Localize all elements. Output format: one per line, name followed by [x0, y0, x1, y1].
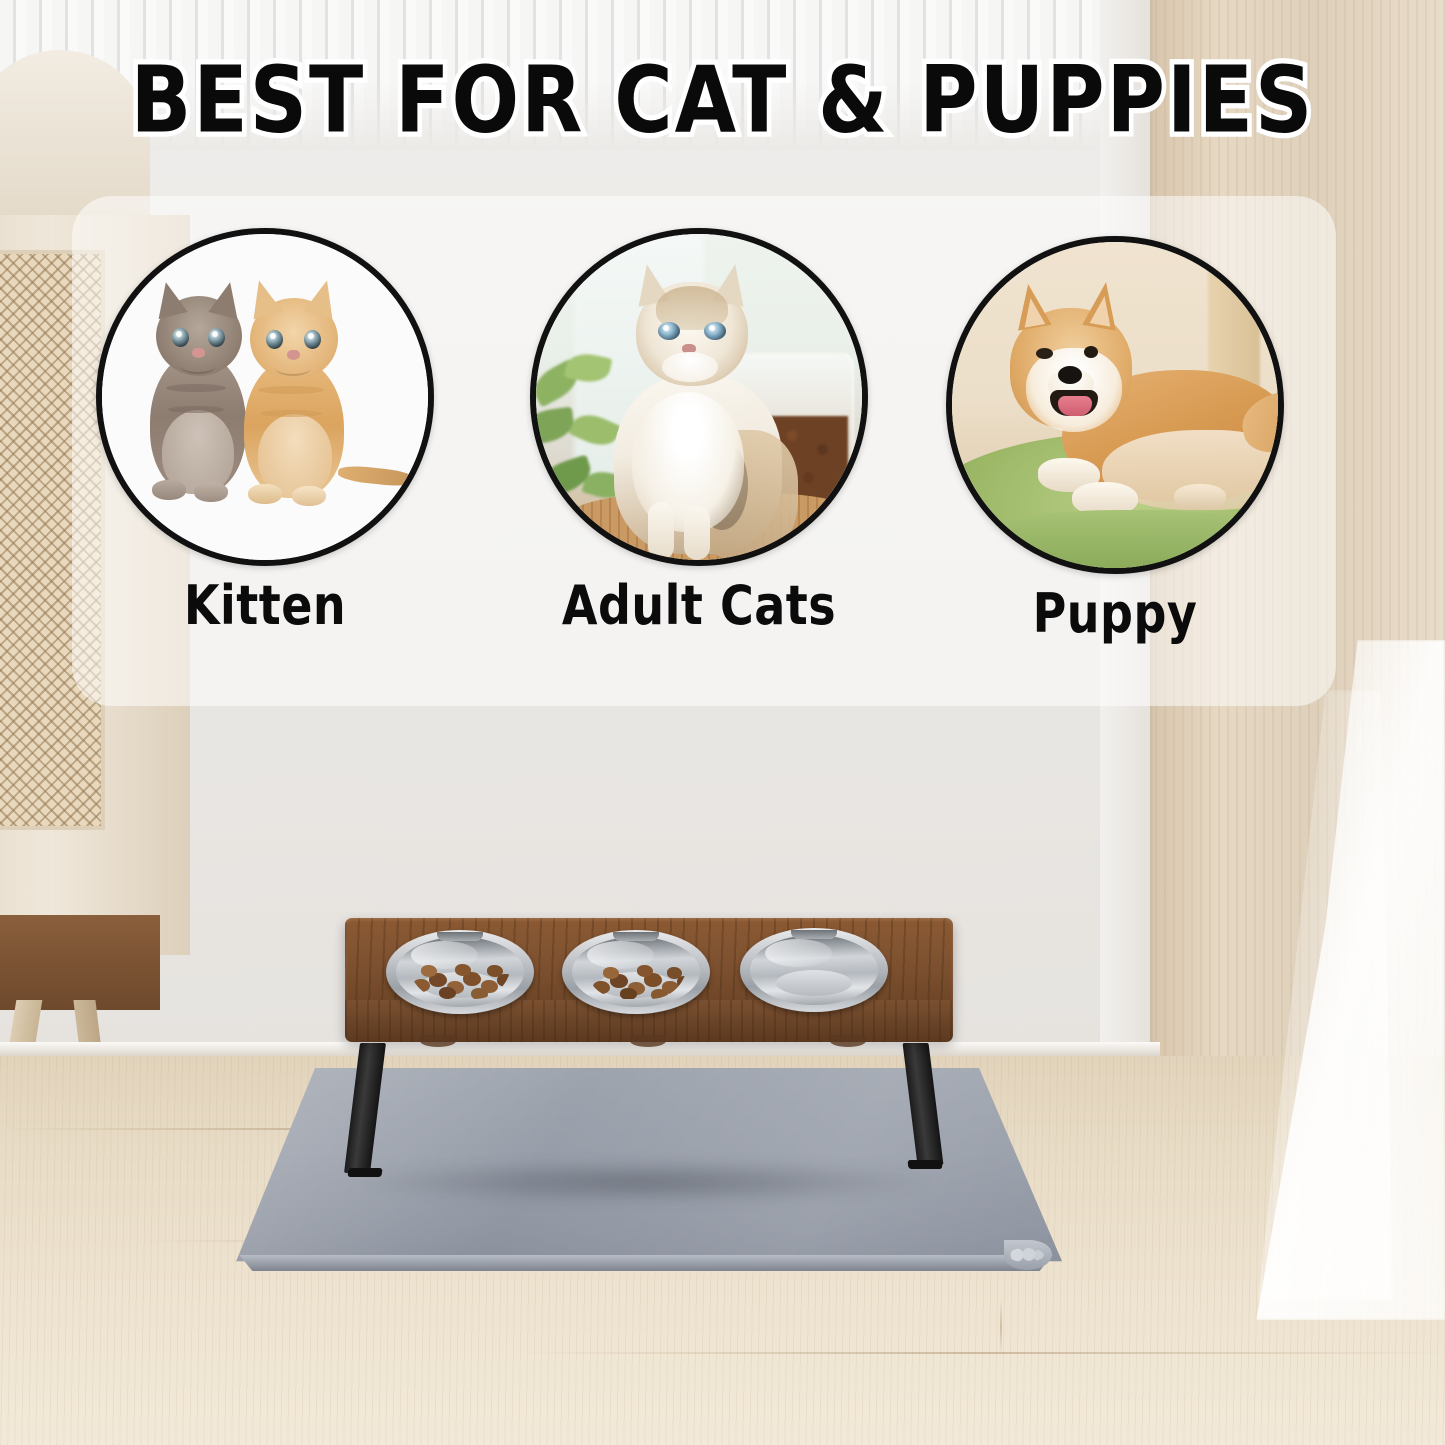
scene-root: BEST FOR CAT & PUPPIES — [0, 0, 1445, 1445]
pet-card-label-adult-cats: Adult Cats — [530, 573, 868, 637]
pet-card-puppy[interactable]: Puppy — [946, 236, 1284, 574]
kitten-photo-circle — [96, 228, 434, 566]
pet-cards-group: Kitten — [0, 0, 1445, 1445]
adult-cat-photo-circle — [530, 228, 868, 566]
pet-card-kitten[interactable]: Kitten — [96, 228, 434, 566]
kitten-scene — [102, 234, 428, 560]
puppy-scene — [952, 242, 1278, 568]
puppy-photo-circle — [946, 236, 1284, 574]
pet-card-label-kitten: Kitten — [96, 573, 434, 637]
page-title: BEST FOR CAT & PUPPIES — [0, 48, 1445, 154]
pet-card-adult-cats[interactable]: Adult Cats — [530, 228, 868, 566]
pet-card-label-puppy: Puppy — [946, 581, 1284, 645]
adult-cat-scene — [536, 234, 862, 560]
